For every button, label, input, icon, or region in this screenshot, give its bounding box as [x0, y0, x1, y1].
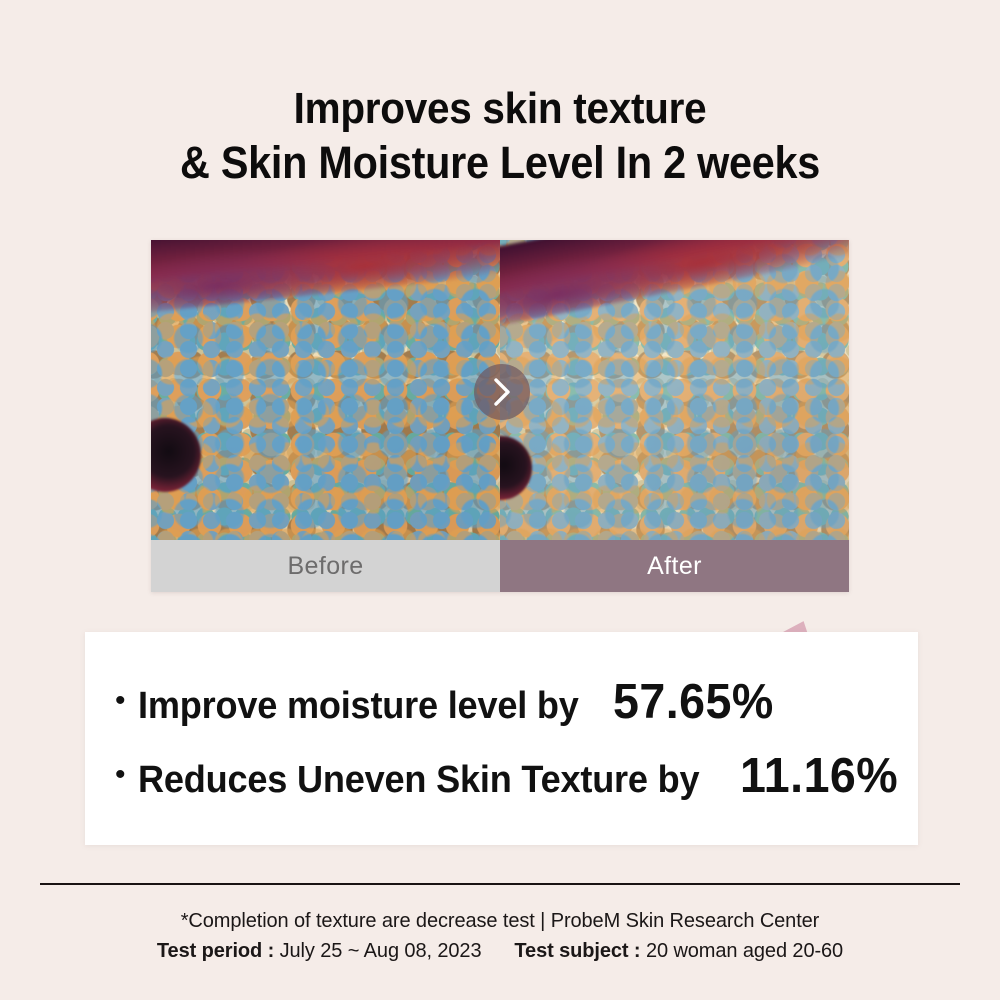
claim-value: 11.16% — [740, 748, 898, 804]
after-label-bar: After — [500, 540, 849, 592]
footer-divider — [40, 883, 960, 885]
footer-test-details: Test period : July 25 ~ Aug 08, 2023 Tes… — [0, 936, 1000, 966]
bullet-icon: • — [115, 686, 126, 716]
test-subject-label: Test subject : — [514, 940, 640, 962]
claim-text: Improve moisture level by — [138, 685, 579, 728]
bullet-icon: • — [115, 760, 126, 790]
before-skin-photo — [151, 240, 500, 540]
after-label: After — [647, 552, 702, 581]
page-title: Improves skin texture & Skin Moisture Le… — [40, 82, 960, 190]
headline-line-2: & Skin Moisture Level In 2 weeks — [40, 136, 960, 190]
before-label-bar: Before — [151, 540, 500, 592]
test-period-label: Test period : — [157, 940, 274, 962]
claims-card: • Improve moisture level by 57.65% • Red… — [85, 632, 918, 845]
after-panel: After — [500, 240, 849, 592]
chevron-right-icon[interactable] — [474, 364, 530, 420]
claim-item: • Improve moisture level by 57.65% — [107, 674, 918, 730]
claim-text: Reduces Uneven Skin Texture by — [138, 759, 699, 802]
footer-disclaimer: *Completion of texture are decrease test… — [0, 906, 1000, 936]
claim-value: 57.65% — [613, 674, 774, 730]
before-label: Before — [287, 552, 363, 581]
after-skin-photo — [500, 240, 849, 540]
test-subject-value: 20 woman aged 20-60 — [646, 940, 843, 962]
test-period-value: July 25 ~ Aug 08, 2023 — [280, 940, 482, 962]
before-panel: Before — [151, 240, 500, 592]
footer: *Completion of texture are decrease test… — [0, 906, 1000, 966]
claim-item: • Reduces Uneven Skin Texture by 11.16% — [107, 748, 918, 804]
headline-line-1: Improves skin texture — [40, 82, 960, 136]
